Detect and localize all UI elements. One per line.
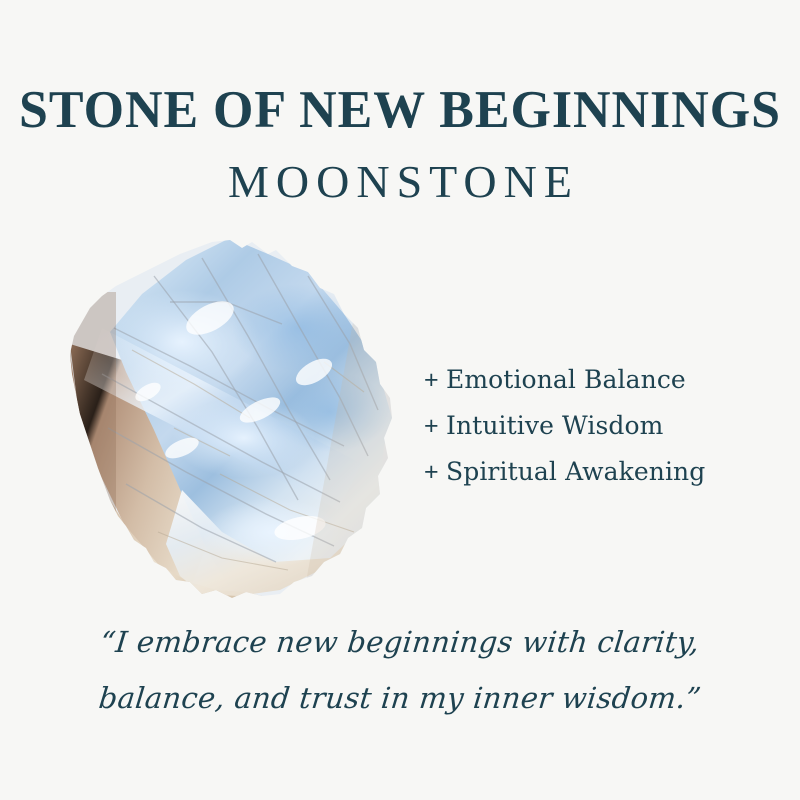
header-block: STONE OF NEW BEGINNINGS MOONSTONE: [0, 84, 800, 205]
stone-left-shadow: [62, 292, 116, 604]
list-item: +Intuitive Wisdom: [424, 403, 705, 449]
stone-body: [62, 232, 398, 604]
benefits-list: +Emotional Balance +Intuitive Wisdom +Sp…: [424, 357, 705, 495]
plus-icon: +: [424, 404, 446, 449]
list-item: +Spiritual Awakening: [424, 449, 705, 495]
moonstone-image: [62, 232, 398, 604]
quote-line-1: “I embrace new beginnings with clarity,: [0, 614, 800, 670]
list-item: +Emotional Balance: [424, 357, 705, 403]
benefit-label: Spiritual Awakening: [446, 457, 705, 486]
benefit-label: Emotional Balance: [446, 365, 686, 394]
quote-line-2: balance, and trust in my inner wisdom.”: [0, 670, 800, 726]
affirmation-quote: “I embrace new beginnings with clarity, …: [0, 614, 800, 726]
page-title: STONE OF NEW BEGINNINGS: [8, 84, 792, 137]
moonstone-illustration: [62, 232, 398, 604]
stone-glow-2: [232, 284, 364, 372]
page-subtitle: MOONSTONE: [0, 137, 800, 205]
plus-icon: +: [424, 358, 446, 403]
benefit-label: Intuitive Wisdom: [446, 411, 663, 440]
poster-canvas: STONE OF NEW BEGINNINGS MOONSTONE: [0, 0, 800, 800]
plus-icon: +: [424, 450, 446, 495]
